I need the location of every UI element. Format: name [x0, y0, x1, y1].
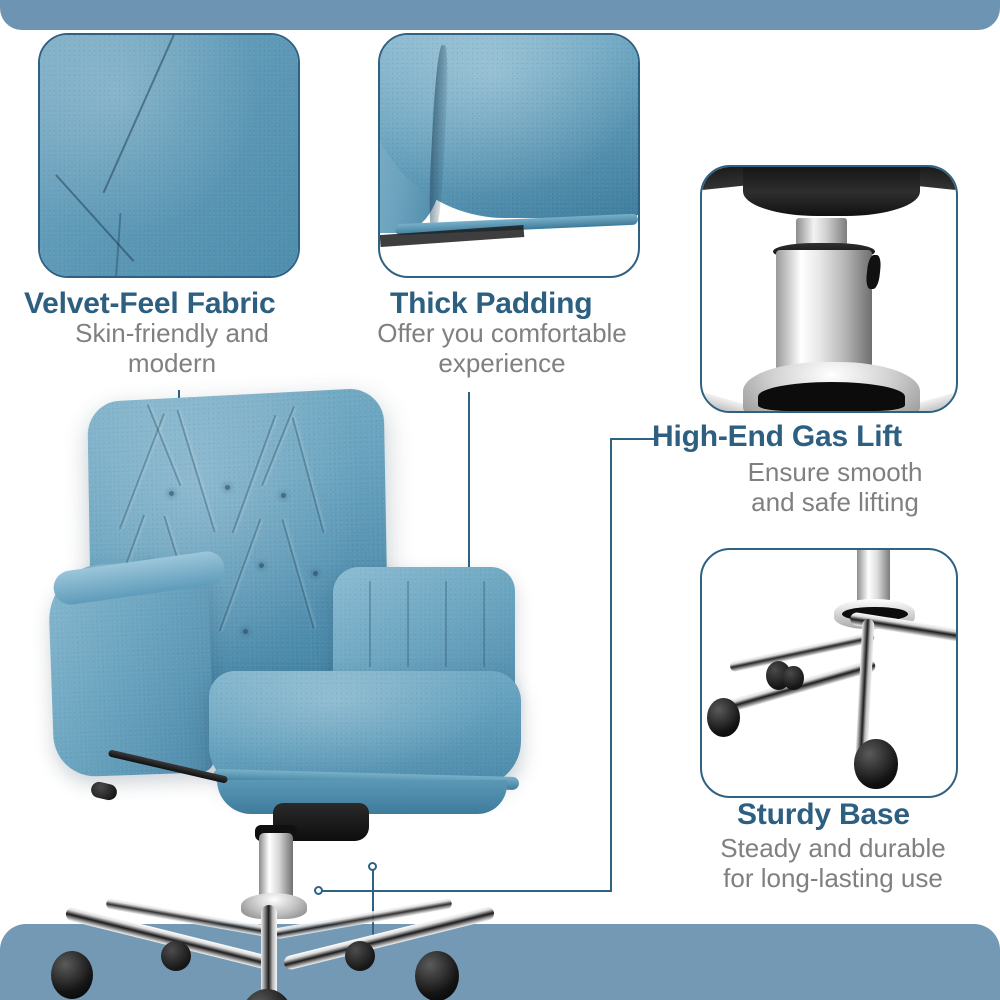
- armrest-seam: [369, 581, 371, 667]
- chair-base-spoke-front: [261, 905, 277, 1000]
- armrest-seam: [483, 581, 485, 667]
- product-chair-photo: [45, 385, 545, 965]
- infographic-page: Velvet-Feel Fabric Skin-friendly and mod…: [0, 0, 1000, 1000]
- chair-height-lever-knob: [90, 780, 119, 801]
- chair-caster-left: [51, 951, 93, 999]
- tuft-button: [313, 571, 318, 576]
- feature-title-gaslift: High-End Gas Lift: [652, 420, 902, 454]
- top-accent-band: [0, 0, 1000, 30]
- sturdy-base-photo: [702, 550, 956, 796]
- chair-caster-right: [415, 951, 459, 1000]
- feature-title-padding: Thick Padding: [390, 287, 592, 321]
- velvet-texture: [40, 35, 298, 276]
- tuft-button: [281, 493, 286, 498]
- base-caster-left: [707, 698, 740, 737]
- base-caster-front: [854, 739, 897, 788]
- armrest-seam: [445, 581, 447, 667]
- velvet-fabric-closeup-panel: [38, 33, 300, 278]
- feature-title-fabric: Velvet-Feel Fabric: [24, 287, 276, 321]
- base-caster-small-mid: [783, 666, 803, 691]
- armrest-seam: [407, 581, 409, 667]
- tuft-button: [169, 491, 174, 496]
- gas-lift-closeup-panel: [700, 165, 958, 413]
- leader-line-gaslift-stub: [610, 438, 654, 440]
- leader-line-gaslift-vertical: [610, 438, 612, 892]
- feature-desc-fabric: Skin-friendly and modern: [22, 318, 322, 378]
- chair-caster-rear-left: [161, 941, 191, 971]
- chair-caster-rear-right: [345, 941, 375, 971]
- tuft-button: [259, 563, 264, 568]
- feature-title-sturdy-base: Sturdy Base: [737, 798, 910, 832]
- sturdy-base-closeup-panel: [700, 548, 958, 798]
- tuft-button: [225, 485, 230, 490]
- gas-lift-base-hub-shadow: [758, 382, 905, 411]
- feature-desc-gaslift: Ensure smooth and safe lifting: [690, 457, 980, 517]
- gas-lift-chrome-cylinder: [776, 250, 873, 372]
- padding-photo: [380, 35, 638, 276]
- tuft-button: [243, 629, 248, 634]
- gas-lift-photo: [702, 167, 956, 411]
- feature-desc-sturdy-base: Steady and durable for long-lasting use: [668, 833, 998, 893]
- feature-desc-padding: Offer you comfortable experience: [332, 318, 672, 378]
- fabric-photo: [40, 35, 298, 276]
- gas-lift-mechanism-housing: [743, 165, 921, 216]
- thick-padding-closeup-panel: [378, 33, 640, 278]
